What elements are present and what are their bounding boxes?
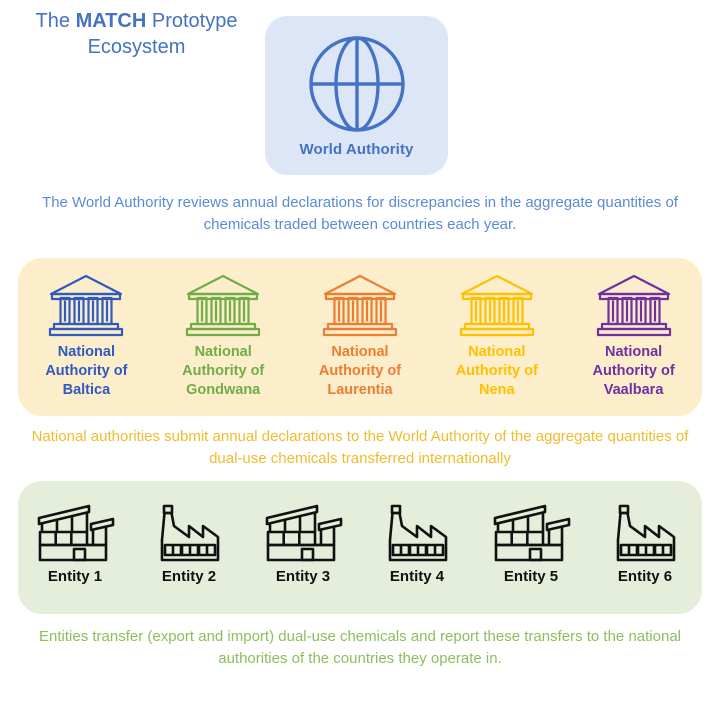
entity-label: Entity 4 xyxy=(390,568,444,585)
entity-label: Entity 2 xyxy=(162,568,216,585)
entity-card[interactable]: Entity 3 xyxy=(252,502,354,585)
national-authority-gondwana[interactable]: National Authority of Gondwana xyxy=(164,272,282,400)
classical-building-icon xyxy=(183,272,263,338)
national-authorities-row: National Authority of BalticaNational Au… xyxy=(18,258,702,416)
chimney-factory-icon xyxy=(153,502,225,564)
entity-card[interactable]: Entity 1 xyxy=(24,502,126,585)
sawtooth-warehouse-icon xyxy=(261,502,345,564)
national-authority-label: National Authority of Gondwana xyxy=(164,343,282,400)
national-authority-baltica[interactable]: National Authority of Baltica xyxy=(27,272,145,400)
entity-card[interactable]: Entity 4 xyxy=(366,502,468,585)
entity-label: Entity 6 xyxy=(618,568,672,585)
page-title: The MATCH Prototype Ecosystem xyxy=(14,8,259,60)
entity-label: Entity 5 xyxy=(504,568,558,585)
national-authority-vaalbara[interactable]: National Authority of Vaalbara xyxy=(575,272,693,400)
national-authority-label: National Authority of Laurentia xyxy=(301,343,419,400)
national-authority-nena[interactable]: National Authority of Nena xyxy=(438,272,556,400)
entity-card[interactable]: Entity 5 xyxy=(480,502,582,585)
sawtooth-warehouse-icon xyxy=(489,502,573,564)
title-prefix: The xyxy=(36,10,76,32)
classical-building-icon xyxy=(457,272,537,338)
entity-label: Entity 3 xyxy=(276,568,330,585)
national-authorities-description: National authorities submit annual decla… xyxy=(24,426,696,470)
classical-building-icon xyxy=(46,272,126,338)
world-authority-card[interactable]: World Authority xyxy=(265,16,448,175)
entity-card[interactable]: Entity 2 xyxy=(138,502,240,585)
title-emphasis: MATCH xyxy=(76,10,147,32)
classical-building-icon xyxy=(594,272,674,338)
sawtooth-warehouse-icon xyxy=(33,502,117,564)
national-authority-laurentia[interactable]: National Authority of Laurentia xyxy=(301,272,419,400)
chimney-factory-icon xyxy=(381,502,453,564)
national-authority-label: National Authority of Baltica xyxy=(27,343,145,400)
globe-icon xyxy=(302,29,412,139)
national-authority-label: National Authority of Vaalbara xyxy=(575,343,693,400)
entity-card[interactable]: Entity 6 xyxy=(594,502,696,585)
classical-building-icon xyxy=(320,272,400,338)
entity-label: Entity 1 xyxy=(48,568,102,585)
national-authority-label: National Authority of Nena xyxy=(438,343,556,400)
world-authority-description: The World Authority reviews annual decla… xyxy=(24,192,696,236)
diagram-canvas: The MATCH Prototype Ecosystem World Auth… xyxy=(0,0,719,709)
entities-row: Entity 1Entity 2Entity 3Entity 4Entity 5… xyxy=(18,481,702,614)
entities-description: Entities transfer (export and import) du… xyxy=(24,626,696,670)
chimney-factory-icon xyxy=(609,502,681,564)
world-authority-label: World Authority xyxy=(300,141,414,158)
